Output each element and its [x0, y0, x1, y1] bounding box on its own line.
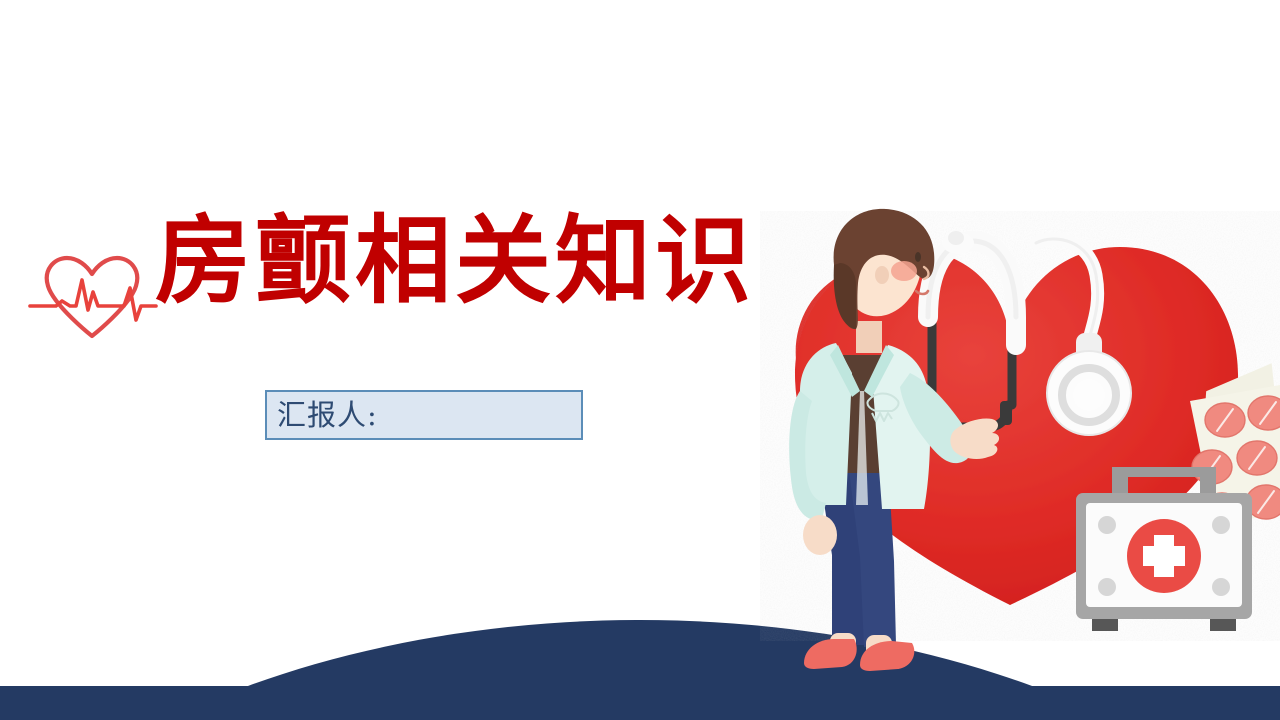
presenter-field[interactable]: 汇报人:	[265, 390, 583, 440]
presenter-label: 汇报人:	[267, 399, 378, 431]
bottom-navy-band-fill	[0, 686, 1280, 720]
page-title: 房颤相关知识	[155, 206, 795, 316]
presentation-slide: 房颤相关知识 汇报人:	[0, 0, 1280, 720]
heartbeat-ecg-icon	[26, 244, 158, 344]
doctor-with-heart-illustration	[760, 205, 1280, 675]
